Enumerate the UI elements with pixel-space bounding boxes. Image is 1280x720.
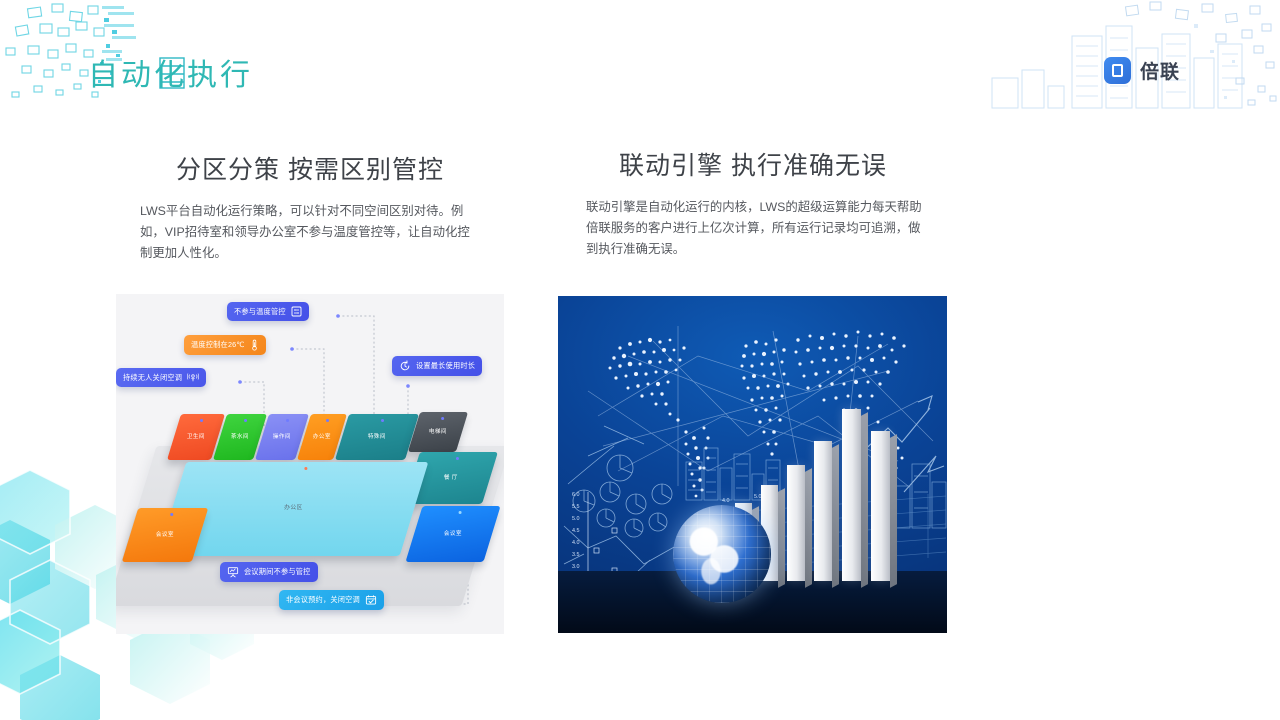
- page-title: 自动化执行: [88, 50, 253, 94]
- callout-meeting-exempt[interactable]: 会议期间不参与管控: [220, 562, 318, 582]
- room-label: 会议室: [444, 531, 462, 538]
- floorplan-illustration: 卫生间 茶水间 操作间 办公室 特殊间 电梯间 餐 厅 办公区 会议室 会议室: [116, 294, 504, 634]
- room-label: 卫生间: [187, 434, 205, 441]
- callout-no-temperature-control[interactable]: 不参与温度管控: [227, 302, 309, 321]
- svg-text:4.5: 4.5: [572, 528, 580, 534]
- brand-logo: 倍联: [1104, 57, 1180, 84]
- column-zoning: 分区分策 按需区别管控 LWS平台自动化运行策略，可以针对不同空间区别对待。例如…: [116, 150, 504, 264]
- svg-text:3.0: 3.0: [572, 564, 580, 570]
- bar-4: [787, 465, 805, 581]
- zoning-body: LWS平台自动化运行策略，可以针对不同空间区别对待。例如，VIP招待室和领导办公…: [116, 201, 504, 264]
- motion-sensor-icon: [187, 372, 199, 383]
- svg-text:3.5: 3.5: [572, 552, 580, 558]
- bar-5: [814, 441, 832, 581]
- room-label: 办公区: [284, 505, 303, 512]
- callout-unattended-shutdown[interactable]: 持续无人关闭空调: [116, 368, 206, 387]
- brand-name: 倍联: [1140, 57, 1180, 84]
- callout-no-booking-shutdown[interactable]: 非会议预约，关闭空调: [279, 590, 384, 610]
- callout-label: 持续无人关闭空调: [123, 373, 182, 383]
- data-engine-illustration: 6.05.55.0 4.54.03.5 3.02.52.0 1.51.0 4.0…: [558, 296, 947, 633]
- slide-header: 自动化执行 倍联: [0, 0, 1280, 120]
- room-label: 茶水间: [231, 434, 249, 441]
- svg-text:4.0: 4.0: [572, 540, 580, 546]
- room-special[interactable]: 特殊间: [335, 414, 419, 460]
- list-panel-icon: [291, 306, 302, 317]
- room-label: 办公室: [313, 434, 331, 441]
- column-engine: 联动引擎 执行准确无误 联动引擎是自动化运行的内核，LWS的超级运算能力每天帮助…: [558, 146, 948, 260]
- presenter-icon: [227, 566, 239, 578]
- room-label: 餐 厅: [444, 475, 458, 482]
- callout-label: 非会议预约，关闭空调: [286, 595, 360, 605]
- rounded-square-logo-icon: [1104, 57, 1131, 84]
- callout-max-duration[interactable]: 设置最长使用时长: [392, 356, 482, 376]
- svg-text:4.0: 4.0: [722, 498, 730, 504]
- svg-text:5.5: 5.5: [572, 504, 580, 510]
- room-label: 会议室: [156, 532, 174, 539]
- callout-temperature-26[interactable]: 温度控制在26℃: [184, 335, 266, 355]
- svg-text:5.0: 5.0: [572, 516, 580, 522]
- room-label: 电梯间: [429, 429, 447, 436]
- bar-6: [842, 409, 861, 581]
- engine-heading: 联动引擎 执行准确无误: [558, 146, 948, 182]
- engine-body: 联动引擎是自动化运行的内核，LWS的超级运算能力每天帮助倍联服务的客户进行上亿次…: [558, 197, 948, 260]
- callout-label: 温度控制在26℃: [191, 340, 245, 350]
- timer-clock-icon: [399, 360, 411, 372]
- room-label: 操作间: [273, 434, 291, 441]
- bar-7: [871, 431, 890, 581]
- zoning-heading: 分区分策 按需区别管控: [116, 150, 504, 186]
- thermometer-icon: [250, 339, 259, 351]
- callout-label: 设置最长使用时长: [416, 361, 475, 371]
- calendar-check-icon: [365, 594, 377, 606]
- callout-label: 不参与温度管控: [234, 307, 286, 317]
- room-label: 特殊间: [368, 434, 386, 441]
- 3d-globe: [673, 505, 771, 603]
- svg-text:6.0: 6.0: [572, 492, 580, 498]
- callout-label: 会议期间不参与管控: [244, 567, 311, 577]
